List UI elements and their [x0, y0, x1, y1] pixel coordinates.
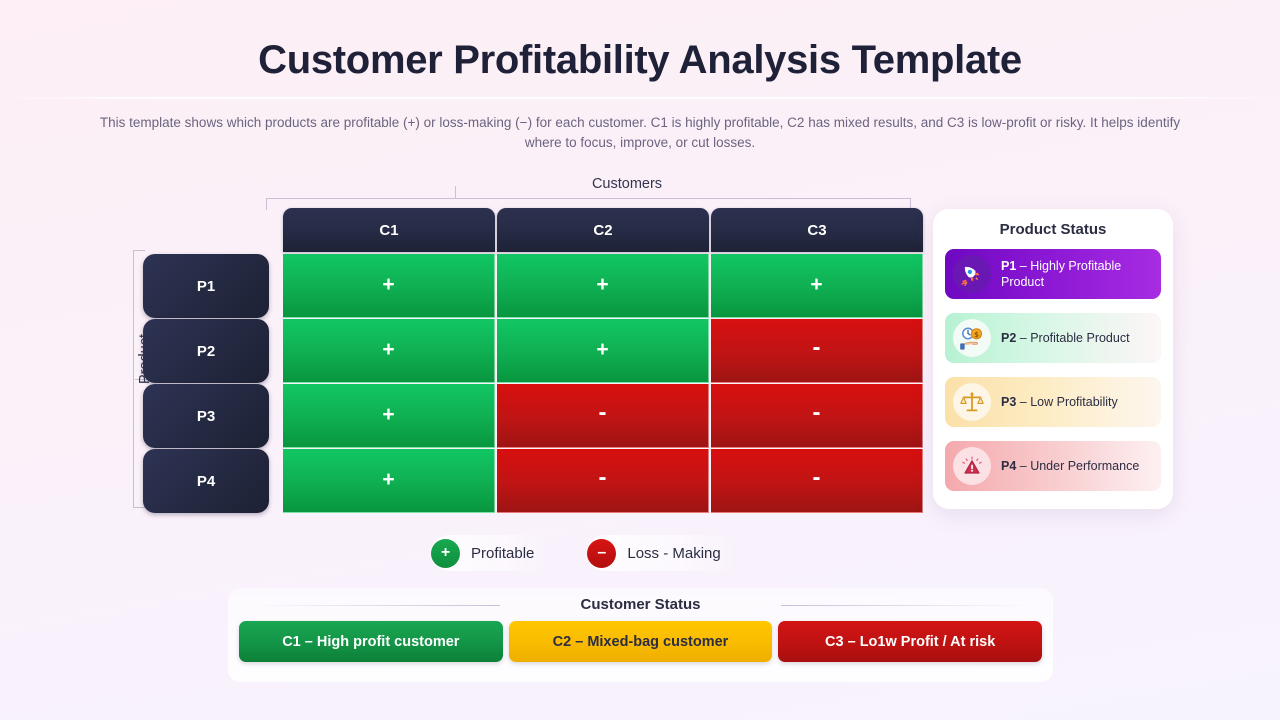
matrix-cell-p4-c3[interactable]: - [711, 449, 923, 513]
status-badge-c2[interactable]: C2 – Mixed-bag customer [509, 621, 773, 662]
matrix-cell-p3-c2[interactable]: - [497, 384, 709, 448]
customers-axis-label: Customers [537, 176, 717, 192]
cell-sign: + [382, 403, 394, 427]
matrix-row-header-p3[interactable]: P3 [143, 384, 269, 448]
cell-sign: + [596, 338, 608, 362]
product-separator: – [1016, 259, 1030, 273]
plus-icon: + [431, 539, 460, 568]
profitability-matrix: Customers Product C1 C2 C3 P1 + + + P2 [133, 176, 923, 511]
matrix-cell-p2-c1[interactable]: + [283, 319, 495, 383]
cell-sign: - [599, 399, 607, 427]
matrix-column-header-c1[interactable]: C1 [283, 208, 495, 252]
table-row: P3 + - - [143, 384, 923, 448]
money-hand-icon: $ [953, 319, 991, 357]
svg-text:$: $ [974, 331, 979, 339]
status-badge-c1[interactable]: C1 – High profit customer [239, 621, 503, 662]
matrix-cell-p3-c3[interactable]: - [711, 384, 923, 448]
matrix-row-header-p2[interactable]: P2 [143, 319, 269, 383]
matrix-cell-p1-c3[interactable]: + [711, 254, 923, 318]
table-row: P2 + + - [143, 319, 923, 383]
divider-right [781, 605, 1031, 606]
product-separator: – [1016, 395, 1030, 409]
product-code: P4 [1001, 459, 1016, 473]
table-row: P4 + - - [143, 449, 923, 513]
status-badge-c3[interactable]: C3 – Lo1w Profit / At risk [778, 621, 1042, 662]
cell-sign: - [813, 334, 821, 362]
product-status-title: Product Status [945, 221, 1161, 238]
cell-sign: + [382, 338, 394, 362]
customer-status-title: Customer Status [566, 596, 714, 613]
legend-label-loss-making: Loss - Making [627, 545, 720, 562]
matrix-row-header-p1[interactable]: P1 [143, 254, 269, 318]
matrix-rows: P1 + + + P2 + + - P3 + - - [143, 254, 923, 514]
matrix-cell-p1-c2[interactable]: + [497, 254, 709, 318]
legend-item-profitable: + Profitable [431, 535, 550, 571]
customer-status-header: Customer Status [228, 588, 1053, 621]
legend-item-loss-making: – Loss - Making [587, 535, 736, 571]
product-status-label-p1: P1 – Highly Profitable Product [1001, 258, 1153, 290]
product-code: P3 [1001, 395, 1016, 409]
product-status-item-p1[interactable]: P1 – Highly Profitable Product [945, 249, 1161, 299]
product-status-item-p4[interactable]: P4 – Under Performance [945, 441, 1161, 491]
matrix-column-headers: C1 C2 C3 [283, 208, 923, 252]
cell-sign: - [813, 464, 821, 492]
product-desc: Low Profitability [1030, 395, 1118, 409]
matrix-cell-p4-c2[interactable]: - [497, 449, 709, 513]
product-status-panel: Product Status P1 – Highly Profitable Pr… [933, 209, 1173, 509]
rocket-icon [953, 255, 991, 293]
product-separator: – [1016, 459, 1030, 473]
product-status-item-p2[interactable]: $ P2 – Profitable Product [945, 313, 1161, 363]
cell-sign: - [813, 399, 821, 427]
cell-sign: + [810, 273, 822, 297]
matrix-column-header-c3[interactable]: C3 [711, 208, 923, 252]
slide-root: Customer Profitability Analysis Template… [0, 0, 1280, 720]
product-code: P2 [1001, 331, 1016, 345]
matrix-column-header-c2[interactable]: C2 [497, 208, 709, 252]
header-divider [0, 97, 1280, 99]
product-status-label-p3: P3 – Low Profitability [1001, 394, 1118, 410]
balance-scale-icon [953, 383, 991, 421]
product-desc: Under Performance [1030, 459, 1139, 473]
matrix-grid: C1 C2 C3 P1 + + + P2 + + - P3 [143, 208, 923, 511]
product-code: P1 [1001, 259, 1016, 273]
warning-triangle-icon [953, 447, 991, 485]
cell-sign: + [382, 468, 394, 492]
matrix-cell-p3-c1[interactable]: + [283, 384, 495, 448]
page-title: Customer Profitability Analysis Template [0, 38, 1280, 83]
matrix-legend: + Profitable – Loss - Making [431, 535, 737, 571]
customer-status-chips: C1 – High profit customer C2 – Mixed-bag… [228, 621, 1053, 662]
matrix-cell-p4-c1[interactable]: + [283, 449, 495, 513]
divider-left [250, 605, 500, 606]
product-status-item-p3[interactable]: P3 – Low Profitability [945, 377, 1161, 427]
matrix-cell-p2-c2[interactable]: + [497, 319, 709, 383]
cell-sign: + [596, 273, 608, 297]
customer-status-panel: Customer Status C1 – High profit custome… [228, 588, 1053, 682]
matrix-cell-p2-c3[interactable]: - [711, 319, 923, 383]
matrix-cell-p1-c1[interactable]: + [283, 254, 495, 318]
legend-label-profitable: Profitable [471, 545, 534, 562]
product-status-label-p4: P4 – Under Performance [1001, 458, 1139, 474]
minus-icon: – [587, 539, 616, 568]
product-separator: – [1016, 331, 1030, 345]
product-desc: Profitable Product [1030, 331, 1129, 345]
page-subtitle: This template shows which products are p… [90, 113, 1190, 153]
product-status-label-p2: P2 – Profitable Product [1001, 330, 1130, 346]
matrix-row-header-p4[interactable]: P4 [143, 449, 269, 513]
customers-axis-tick [455, 186, 456, 198]
cell-sign: - [599, 464, 607, 492]
cell-sign: + [382, 273, 394, 297]
table-row: P1 + + + [143, 254, 923, 318]
